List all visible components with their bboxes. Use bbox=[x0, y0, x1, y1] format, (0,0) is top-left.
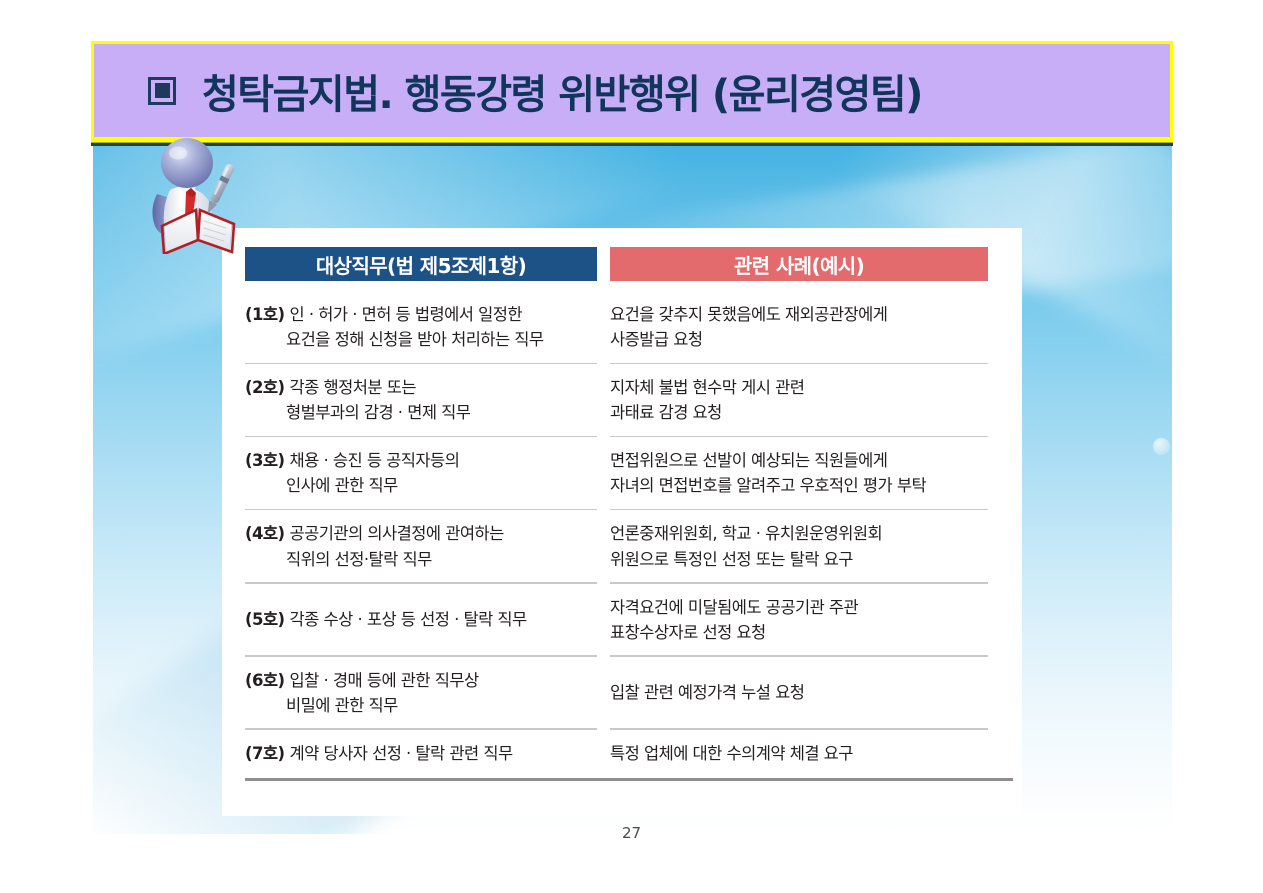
cell-case: 언론중재위원회, 학교 · 유치원운영위원회위원으로 특정인 선정 또는 탈락 … bbox=[610, 510, 988, 583]
table-row: (3호)채용 · 승진 등 공직자등의인사에 관한 직무면접위원으로 선발이 예… bbox=[222, 437, 1022, 510]
table-bottom-rule bbox=[245, 778, 1013, 781]
case-line: 위원으로 특정인 선정 또는 탈락 요구 bbox=[610, 547, 988, 572]
item-number: (2호) bbox=[245, 378, 285, 397]
duty-line: (5호)각종 수상 · 포상 등 선정 · 탈락 직무 bbox=[245, 607, 597, 632]
slide-root: 청탁금지법. 행동강령 위반행위 (윤리경영팀) bbox=[0, 0, 1263, 893]
duty-text: 각종 수상 · 포상 등 선정 · 탈락 직무 bbox=[290, 610, 527, 629]
filled-square-icon bbox=[148, 77, 176, 105]
background-bubble bbox=[1153, 438, 1170, 455]
table-row: (4호)공공기관의 의사결정에 관여하는직위의 선정·탈락 직무언론중재위원회,… bbox=[222, 510, 1022, 583]
cell-duty: (2호)각종 행정처분 또는형벌부과의 감경 · 면제 직무 bbox=[245, 364, 597, 437]
case-line: 요건을 갖추지 못했음에도 재외공관장에게 bbox=[610, 302, 988, 327]
duty-line: (6호)입찰 · 경매 등에 관한 직무상 bbox=[245, 668, 597, 693]
table-row: (6호)입찰 · 경매 등에 관한 직무상비밀에 관한 직무입찰 관련 예정가격… bbox=[222, 657, 1022, 730]
cell-duty: (1호)인 · 허가 · 면허 등 법령에서 일정한요건을 정해 신청을 받아 … bbox=[245, 291, 597, 364]
item-number: (7호) bbox=[245, 744, 285, 763]
duty-text: 계약 당사자 선정 · 탈락 관련 직무 bbox=[290, 744, 513, 763]
case-line: 자녀의 면접번호를 알려주고 우호적인 평가 부탁 bbox=[610, 473, 988, 498]
duty-text: 각종 행정처분 또는 bbox=[290, 378, 416, 397]
case-line: 면접위원으로 선발이 예상되는 직원들에게 bbox=[610, 448, 988, 473]
duty-line: (7호)계약 당사자 선정 · 탈락 관련 직무 bbox=[245, 741, 597, 766]
duty-line: (4호)공공기관의 의사결정에 관여하는 bbox=[245, 521, 597, 546]
case-line: 과태료 감경 요청 bbox=[610, 400, 988, 425]
cell-case: 입찰 관련 예정가격 누설 요청 bbox=[610, 657, 988, 730]
case-line: 특정 업체에 대한 수의계약 체결 요구 bbox=[610, 741, 988, 766]
cell-duty: (7호)계약 당사자 선정 · 탈락 관련 직무 bbox=[245, 730, 597, 778]
item-number: (4호) bbox=[245, 524, 285, 543]
duty-text: 공공기관의 의사결정에 관여하는 bbox=[290, 524, 504, 543]
slide-title-banner: 청탁금지법. 행동강령 위반행위 (윤리경영팀) bbox=[91, 41, 1173, 140]
case-line: 지자체 불법 현수막 게시 관련 bbox=[610, 375, 988, 400]
person-writing-in-book-icon bbox=[140, 136, 250, 254]
duty-text: 입찰 · 경매 등에 관한 직무상 bbox=[290, 671, 479, 690]
cell-duty: (3호)채용 · 승진 등 공직자등의인사에 관한 직무 bbox=[245, 437, 597, 510]
item-number: (3호) bbox=[245, 451, 285, 470]
cell-case: 특정 업체에 대한 수의계약 체결 요구 bbox=[610, 730, 988, 778]
cell-duty: (6호)입찰 · 경매 등에 관한 직무상비밀에 관한 직무 bbox=[245, 657, 597, 730]
cell-case: 지자체 불법 현수막 게시 관련과태료 감경 요청 bbox=[610, 364, 988, 437]
duty-line: 인사에 관한 직무 bbox=[245, 473, 597, 498]
case-line: 언론중재위원회, 학교 · 유치원운영위원회 bbox=[610, 521, 988, 546]
duty-line: 형벌부과의 감경 · 면제 직무 bbox=[245, 400, 597, 425]
table-header-row: 대상직무(법 제5조제1항) 관련 사례(예시) bbox=[222, 228, 1022, 281]
item-number: (6호) bbox=[245, 671, 285, 690]
case-line: 표창수상자로 선정 요청 bbox=[610, 620, 988, 645]
table-row: (2호)각종 행정처분 또는형벌부과의 감경 · 면제 직무지자체 불법 현수막… bbox=[222, 364, 1022, 437]
page-title: 청탁금지법. 행동강령 위반행위 (윤리경영팀) bbox=[202, 62, 922, 120]
column-header-case: 관련 사례(예시) bbox=[610, 247, 988, 281]
table-body: (1호)인 · 허가 · 면허 등 법령에서 일정한요건을 정해 신청을 받아 … bbox=[222, 291, 1022, 778]
case-line: 입찰 관련 예정가격 누설 요청 bbox=[610, 680, 988, 705]
item-number: (5호) bbox=[245, 610, 285, 629]
duty-line: (3호)채용 · 승진 등 공직자등의 bbox=[245, 448, 597, 473]
cell-case: 요건을 갖추지 못했음에도 재외공관장에게사증발급 요청 bbox=[610, 291, 988, 364]
duty-text: 채용 · 승진 등 공직자등의 bbox=[290, 451, 460, 470]
title-underline-rule bbox=[91, 140, 1173, 146]
duty-line: 비밀에 관한 직무 bbox=[245, 693, 597, 718]
duty-line: (2호)각종 행정처분 또는 bbox=[245, 375, 597, 400]
cell-case: 면접위원으로 선발이 예상되는 직원들에게자녀의 면접번호를 알려주고 우호적인… bbox=[610, 437, 988, 510]
duty-line: 요건을 정해 신청을 받아 처리하는 직무 bbox=[245, 327, 597, 352]
case-line: 자격요건에 미달됨에도 공공기관 주관 bbox=[610, 595, 988, 620]
case-line: 사증발급 요청 bbox=[610, 327, 988, 352]
item-number: (1호) bbox=[245, 305, 285, 324]
cell-duty: (4호)공공기관의 의사결정에 관여하는직위의 선정·탈락 직무 bbox=[245, 510, 597, 583]
table-row: (1호)인 · 허가 · 면허 등 법령에서 일정한요건을 정해 신청을 받아 … bbox=[222, 291, 1022, 364]
duty-line: (1호)인 · 허가 · 면허 등 법령에서 일정한 bbox=[245, 302, 597, 327]
table-row: (5호)각종 수상 · 포상 등 선정 · 탈락 직무자격요건에 미달됨에도 공… bbox=[222, 584, 1022, 657]
duty-text: 인 · 허가 · 면허 등 법령에서 일정한 bbox=[290, 305, 522, 324]
column-header-duty: 대상직무(법 제5조제1항) bbox=[245, 247, 597, 281]
cell-case: 자격요건에 미달됨에도 공공기관 주관표창수상자로 선정 요청 bbox=[610, 584, 988, 657]
table-row: (7호)계약 당사자 선정 · 탈락 관련 직무특정 업체에 대한 수의계약 체… bbox=[222, 730, 1022, 778]
page-number: 27 bbox=[0, 824, 1263, 842]
cell-duty: (5호)각종 수상 · 포상 등 선정 · 탈락 직무 bbox=[245, 584, 597, 657]
duty-case-table: 대상직무(법 제5조제1항) 관련 사례(예시) (1호)인 · 허가 · 면허… bbox=[222, 228, 1022, 816]
duty-line: 직위의 선정·탈락 직무 bbox=[245, 547, 597, 572]
